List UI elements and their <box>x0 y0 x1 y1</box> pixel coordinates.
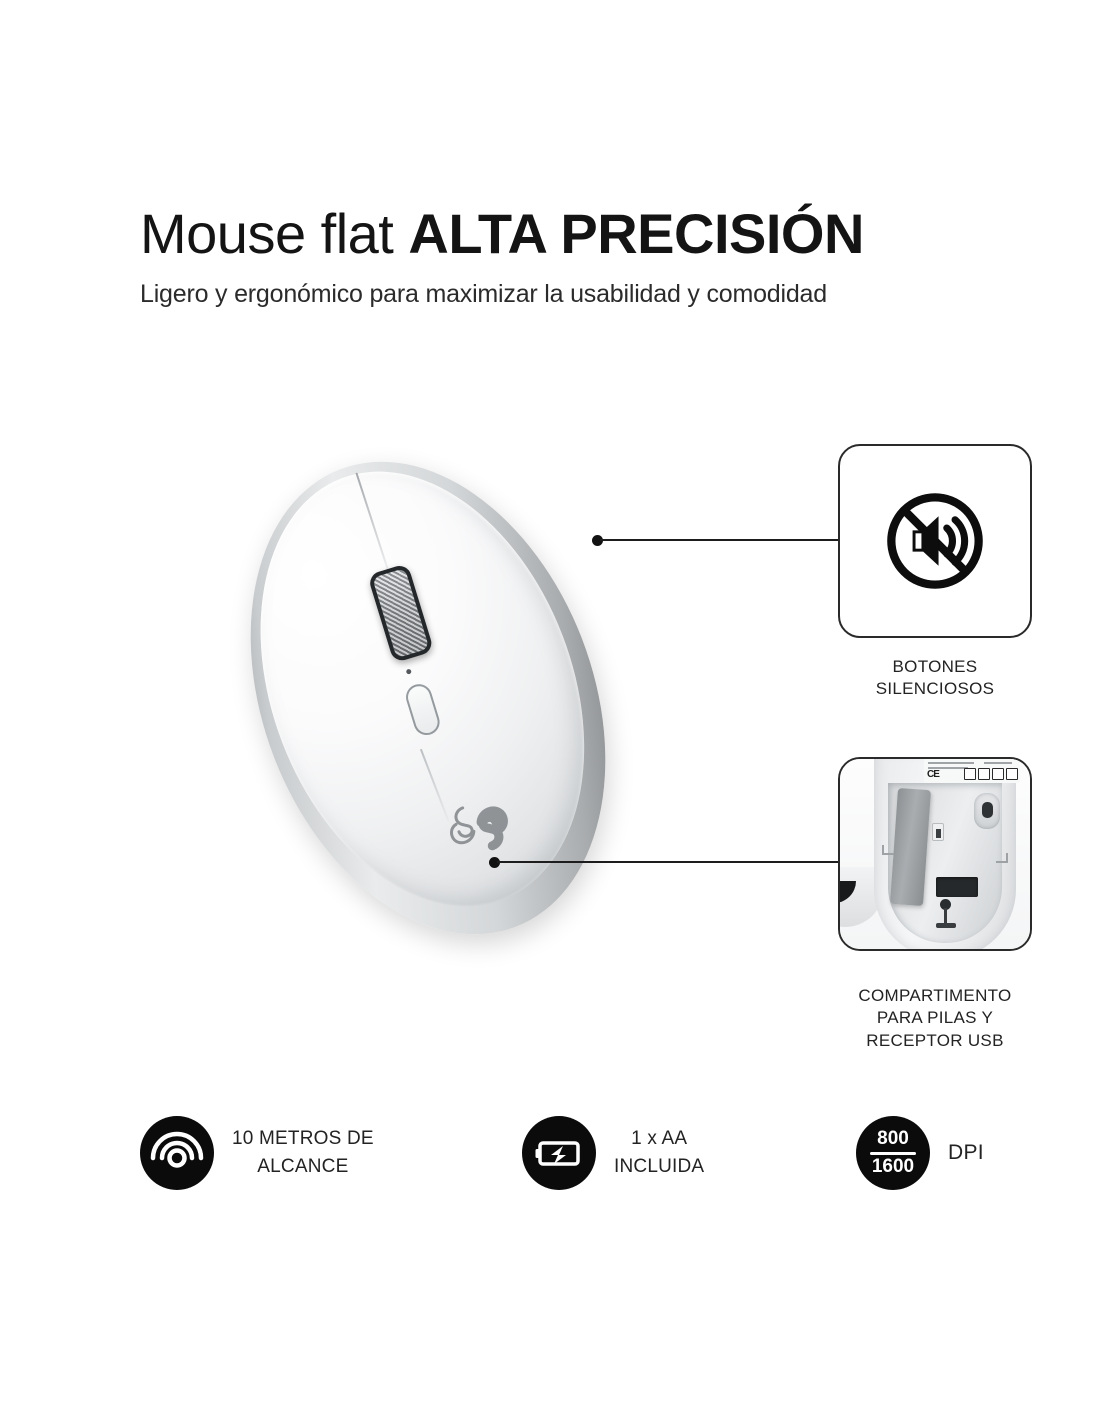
dpi-value-bottom: 1600 <box>872 1157 914 1178</box>
compliance-mark-icon <box>978 768 990 780</box>
callout-battery-compartment[interactable]: CE <box>838 757 1032 951</box>
regulatory-label: CE <box>924 757 1020 783</box>
ce-mark-icon: CE <box>927 769 939 780</box>
screw-foot <box>936 923 956 928</box>
page-header: Mouse flat ALTA PRECISIÓN Ligero y ergon… <box>140 205 1000 309</box>
page-title: Mouse flat ALTA PRECISIÓN <box>140 205 1000 264</box>
pairing-contact <box>932 823 944 841</box>
leader-line-battery <box>497 861 840 863</box>
dpi-value-top: 800 <box>877 1129 909 1150</box>
page-title-bold: ALTA PRECISIÓN <box>408 202 864 265</box>
leader-line-silent <box>600 539 840 541</box>
compliance-mark-icon <box>992 768 1004 780</box>
wireless-signal-icon <box>140 1116 214 1190</box>
sensor-lens-icon <box>982 802 993 818</box>
compliance-mark-icon <box>1006 768 1018 780</box>
screw-stem <box>944 908 947 924</box>
page-title-light: Mouse flat <box>140 202 408 265</box>
wheel-connector-dot <box>405 668 411 674</box>
compliance-mark-icon <box>964 768 976 780</box>
dpi-values: 800 1600 <box>856 1116 930 1190</box>
pairing-contact-pin <box>936 829 941 838</box>
mouse-illustration <box>186 410 670 986</box>
product-image <box>175 435 680 960</box>
feature-range: 10 METROS DE ALCANCE <box>140 1116 374 1190</box>
feature-dpi-label: DPI <box>948 1141 984 1165</box>
usb-receiver-slot <box>936 877 978 897</box>
feature-range-label: 10 METROS DE ALCANCE <box>232 1125 374 1180</box>
mouse-side-shadow <box>838 881 856 903</box>
wireless-signal-badge <box>140 1116 214 1190</box>
callout-silent-buttons[interactable] <box>838 444 1032 638</box>
callout-silent-buttons-caption: BOTONES SILENCIOSOS <box>838 656 1032 701</box>
page-subtitle: Ligero y ergonómico para maximizar la us… <box>140 280 1000 309</box>
callout-battery-compartment-caption: COMPARTIMENTO PARA PILAS Y RECEPTOR USB <box>828 985 1042 1052</box>
compliance-marks <box>964 768 1018 780</box>
battery-tab-left <box>882 845 894 855</box>
mouse-bottom-body: CE <box>874 757 1016 951</box>
battery-bolt-badge <box>522 1116 596 1190</box>
feature-dpi: 800 1600 DPI <box>856 1116 984 1190</box>
feature-battery-label: 1 x AA INCLUIDA <box>614 1125 704 1180</box>
dpi-badge-icon: 800 1600 <box>856 1116 930 1190</box>
feature-battery: 1 x AA INCLUIDA <box>522 1116 704 1190</box>
battery-bolt-icon <box>522 1116 596 1190</box>
dpi-divider <box>870 1152 916 1155</box>
battery-tab-right <box>996 853 1008 863</box>
feature-row: 10 METROS DE ALCANCE 1 x AA INCLUIDA 800… <box>140 1104 1040 1214</box>
optical-sensor <box>974 793 1000 829</box>
mute-speaker-icon <box>876 482 994 600</box>
mouse-underside-photo: CE <box>840 759 1030 949</box>
